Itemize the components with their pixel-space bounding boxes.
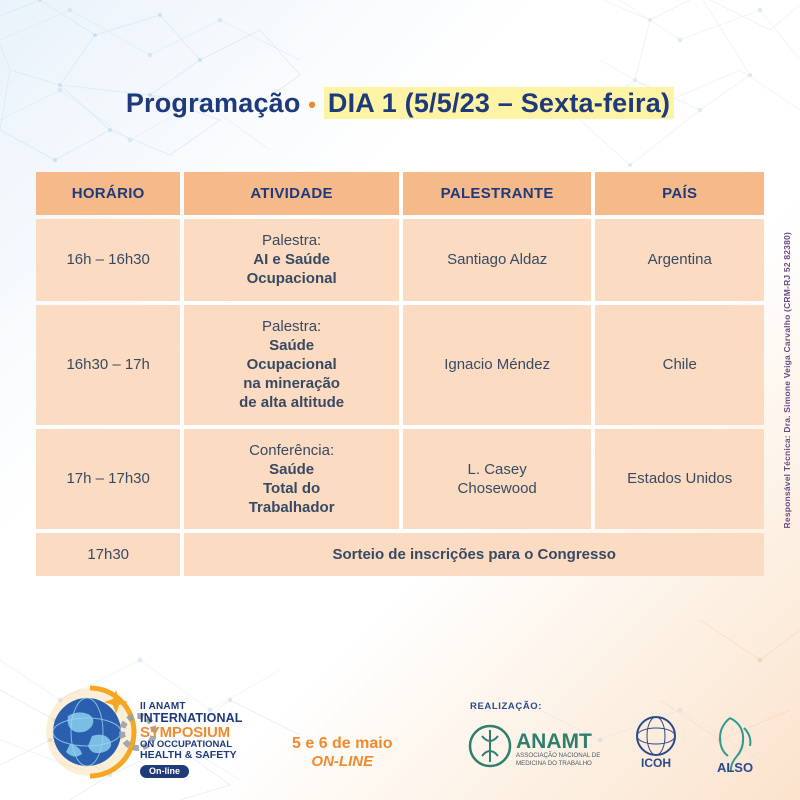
cell-time: 16h – 16h30 xyxy=(36,219,180,301)
cell-activity: Palestra: AI e Saúde Ocupacional xyxy=(184,219,399,301)
column-header-horario: HORÁRIO xyxy=(36,172,180,215)
cell-raffle-note: Sorteio de inscrições para o Congresso xyxy=(184,533,764,576)
also-name: ALSO xyxy=(717,760,753,775)
cell-speaker: L. Casey Chosewood xyxy=(403,429,592,530)
title-prefix: Programação xyxy=(126,88,301,118)
activity-lead: Conferência: xyxy=(190,441,393,460)
activity-line: AI e Saúde xyxy=(190,250,393,269)
cell-country: Argentina xyxy=(595,219,764,301)
technical-responsible-credit: Responsável Técnica: Dra. Simone Veiga C… xyxy=(782,232,792,528)
symposium-wordmark: II ANAMT INTERNATIONAL SYMPOSIUM ON OCCU… xyxy=(140,702,260,778)
activity-line: Total do xyxy=(190,479,393,498)
speaker-line: L. Casey xyxy=(409,460,586,479)
anamt-name: ANAMT xyxy=(516,730,592,753)
table-row: 16h – 16h30 Palestra: AI e Saúde Ocupaci… xyxy=(36,219,764,301)
column-header-palestrante: PALESTRANTE xyxy=(403,172,592,215)
cell-speaker: Santiago Aldaz xyxy=(403,219,592,301)
icoh-logo: ICOH xyxy=(625,712,687,770)
column-header-atividade: ATIVIDADE xyxy=(184,172,399,215)
online-badge: On-line xyxy=(140,765,189,778)
icoh-name: ICOH xyxy=(641,756,671,770)
realization-label: REALIZAÇÃO: xyxy=(470,701,542,712)
activity-line: Saúde xyxy=(190,336,393,355)
activity-line: Ocupacional xyxy=(190,355,393,374)
anamt-sub-1: ASSOCIAÇÃO NACIONAL DE xyxy=(516,752,600,759)
cell-country: Chile xyxy=(595,305,764,425)
table-row-final: 17h30 Sorteio de inscrições para o Congr… xyxy=(36,533,764,576)
activity-line: Ocupacional xyxy=(190,269,393,288)
symposium-line-3: SYMPOSIUM xyxy=(140,725,260,740)
cell-time: 16h30 – 17h xyxy=(36,305,180,425)
activity-lead: Palestra: xyxy=(190,231,393,250)
event-mode-line: ON-LINE xyxy=(292,753,393,770)
activity-line: Saúde xyxy=(190,460,393,479)
speaker-line: Chosewood xyxy=(409,479,586,498)
activity-lead: Palestra: xyxy=(190,317,393,336)
event-dates: 5 e 6 de maio ON-LINE xyxy=(292,735,393,770)
cell-country: Estados Unidos xyxy=(595,429,764,530)
footer: II ANAMT INTERNATIONAL SYMPOSIUM ON OCCU… xyxy=(0,665,800,800)
anamt-logo: ANAMT ASSOCIAÇÃO NACIONAL DE MEDICINA DO… xyxy=(468,720,613,772)
anamt-sub-2: MEDICINA DO TRABALHO xyxy=(516,760,592,767)
also-logo: ALSO xyxy=(700,712,770,776)
activity-line: de alta altitude xyxy=(190,393,393,412)
cell-activity: Conferência: Saúde Total do Trabalhador xyxy=(184,429,399,530)
table-header-row: HORÁRIO ATIVIDADE PALESTRANTE PAÍS xyxy=(36,172,764,215)
cell-activity: Palestra: Saúde Ocupacional na mineração… xyxy=(184,305,399,425)
table-row: 16h30 – 17h Palestra: Saúde Ocupacional … xyxy=(36,305,764,425)
cell-time: 17h – 17h30 xyxy=(36,429,180,530)
symposium-line-5: HEALTH & SAFETY xyxy=(140,750,260,761)
schedule-table: HORÁRIO ATIVIDADE PALESTRANTE PAÍS 16h –… xyxy=(32,168,768,580)
cell-time: 17h30 xyxy=(36,533,180,576)
event-date-line: 5 e 6 de maio xyxy=(292,735,393,753)
title-highlight: DIA 1 (5/5/23 – Sexta-feira) xyxy=(324,87,674,119)
activity-line: na mineração xyxy=(190,374,393,393)
title-bullet: • xyxy=(308,92,316,117)
page-title: Programação • DIA 1 (5/5/23 – Sexta-feir… xyxy=(0,88,800,119)
table-row: 17h – 17h30 Conferência: Saúde Total do … xyxy=(36,429,764,530)
column-header-pais: PAÍS xyxy=(595,172,764,215)
activity-line: Trabalhador xyxy=(190,498,393,517)
cell-speaker: Ignacio Méndez xyxy=(403,305,592,425)
